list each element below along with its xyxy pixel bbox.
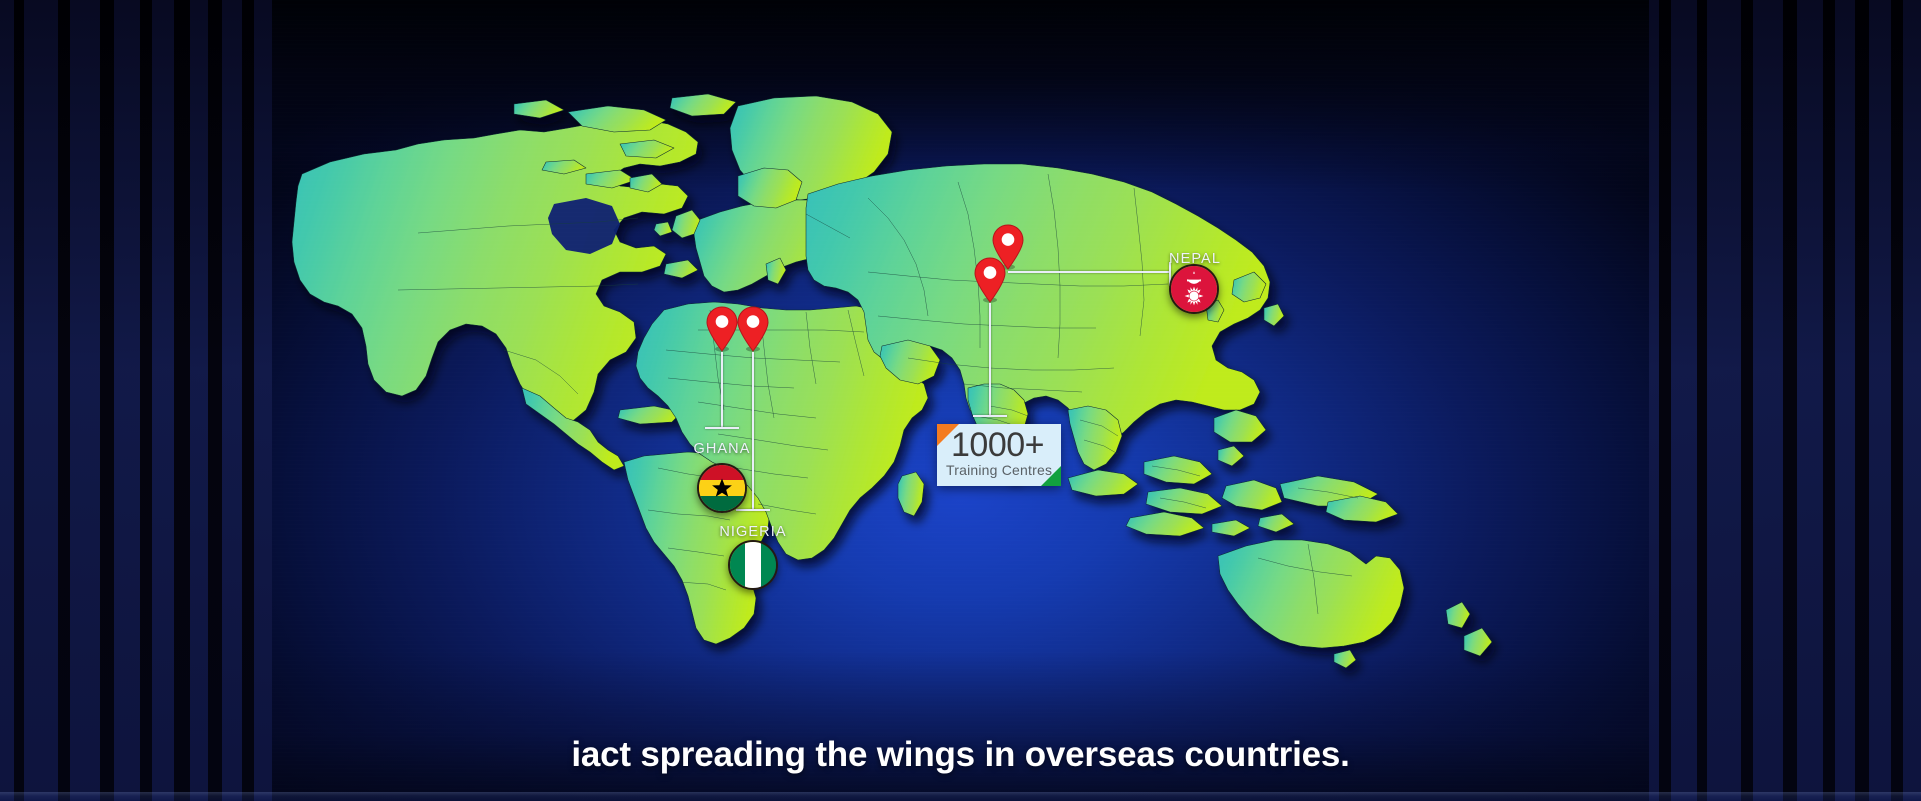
nigeria-flag-left-green-band: [730, 542, 745, 588]
nigeria-pin[interactable]: [736, 306, 770, 352]
nigeria-flag[interactable]: [728, 540, 778, 590]
nepal-flag-moon-sun-icon: [1171, 266, 1217, 312]
nepal-flag[interactable]: [1169, 264, 1219, 314]
training-centres-label: Training Centres: [946, 462, 1052, 478]
ghana-connector-line: [721, 352, 723, 428]
banner-stage: GHANA NIGERIA NEPAL: [0, 0, 1921, 801]
nigeria-flag-white-band: [745, 542, 760, 588]
nepal-connector-line: [1008, 271, 1171, 273]
ghana-flag-star-icon: [711, 477, 733, 499]
ghana-flag[interactable]: [697, 463, 747, 513]
nigeria-connector-line: [752, 352, 754, 510]
training-centres-card[interactable]: 1000+ Training Centres: [937, 424, 1061, 486]
training-centres-count: 1000+: [951, 426, 1044, 465]
ghana-label: GHANA: [693, 441, 750, 457]
india-connector-tick: [973, 415, 1007, 417]
scanline-overlay: [0, 0, 1921, 801]
bottom-highlight-band: [0, 792, 1921, 801]
india-connector-line: [989, 303, 991, 416]
banner-headline: iact spreading the wings in overseas cou…: [0, 735, 1921, 775]
ghana-connector-tick: [705, 427, 739, 429]
nigeria-flag-right-green-band: [761, 542, 776, 588]
ghana-pin[interactable]: [705, 306, 739, 352]
india-pin[interactable]: [973, 257, 1007, 303]
nigeria-label: NIGERIA: [719, 524, 786, 540]
